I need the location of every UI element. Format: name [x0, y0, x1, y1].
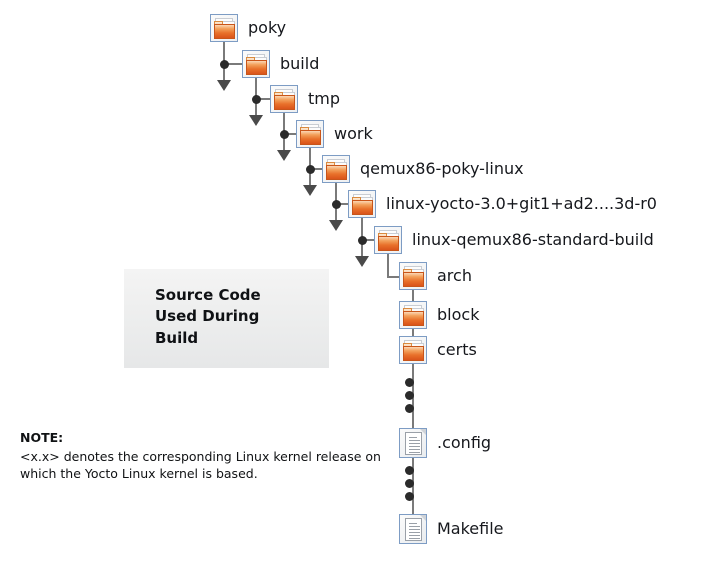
- connector-dot: [252, 95, 261, 104]
- connector-arrowhead: [329, 220, 343, 231]
- tree-node-linux-qemux86-standard-build[interactable]: linux-qemux86-standard-build: [374, 226, 654, 254]
- connector-arrowhead: [303, 185, 317, 196]
- tree-node-tmp[interactable]: tmp: [270, 85, 340, 113]
- folder-icon: [322, 155, 350, 183]
- folder-icon: [270, 85, 298, 113]
- ellipsis-dot: [405, 466, 414, 475]
- connector-arrowhead: [217, 80, 231, 91]
- node-label: arch: [437, 268, 472, 284]
- ellipsis-dot: [405, 404, 414, 413]
- connector-vertical: [412, 290, 414, 301]
- folder-icon: [242, 50, 270, 78]
- note-block: NOTE: <x.x> denotes the corresponding Li…: [20, 430, 390, 483]
- tree-node-qemux86-poky-linux[interactable]: qemux86-poky-linux: [322, 155, 524, 183]
- tree-node-block[interactable]: block: [399, 301, 479, 329]
- ellipsis-dot: [405, 479, 414, 488]
- tree-node-config[interactable]: .config: [399, 428, 491, 458]
- tree-node-build[interactable]: build: [242, 50, 319, 78]
- node-label: .config: [437, 435, 491, 451]
- tree-node-certs[interactable]: certs: [399, 336, 477, 364]
- folder-icon: [348, 190, 376, 218]
- ellipsis-dot: [405, 391, 414, 400]
- tree-node-poky[interactable]: poky: [210, 14, 286, 42]
- node-label: linux-qemux86-standard-build: [412, 232, 654, 248]
- node-label: build: [280, 56, 319, 72]
- node-label: certs: [437, 342, 477, 358]
- directory-tree-diagram: pokybuildtmpworkqemux86-poky-linuxlinux-…: [0, 0, 705, 581]
- connector-dot: [306, 165, 315, 174]
- node-label: block: [437, 307, 479, 323]
- ellipsis-dot: [405, 492, 414, 501]
- connector-dot: [220, 60, 229, 69]
- callout-box: Source Code Used During Build: [124, 269, 329, 368]
- folder-icon: [399, 262, 427, 290]
- folder-icon: [296, 120, 324, 148]
- node-label: qemux86-poky-linux: [360, 161, 524, 177]
- document-icon: [399, 514, 427, 544]
- connector-vertical: [412, 329, 414, 336]
- note-body: <x.x> denotes the corresponding Linux ke…: [20, 448, 390, 484]
- folder-icon: [399, 301, 427, 329]
- tree-node-makefile[interactable]: Makefile: [399, 514, 504, 544]
- connector-arrowhead: [277, 150, 291, 161]
- node-label: tmp: [308, 91, 340, 107]
- node-label: Makefile: [437, 521, 504, 537]
- node-label: work: [334, 126, 373, 142]
- folder-icon: [210, 14, 238, 42]
- tree-node-work[interactable]: work: [296, 120, 373, 148]
- connector-dot: [358, 236, 367, 245]
- connector-arrowhead: [249, 115, 263, 126]
- document-icon: [399, 428, 427, 458]
- folder-icon: [374, 226, 402, 254]
- callout-text: Source Code Used During Build: [155, 285, 261, 349]
- note-title: NOTE:: [20, 430, 390, 446]
- node-label: linux-yocto-3.0+git1+ad2....3d-r0: [386, 196, 657, 212]
- connector-dot: [280, 130, 289, 139]
- tree-node-arch[interactable]: arch: [399, 262, 472, 290]
- ellipsis-dot: [405, 378, 414, 387]
- tree-node-linux-yocto-3-0-git1-ad2-3d-r0[interactable]: linux-yocto-3.0+git1+ad2....3d-r0: [348, 190, 657, 218]
- folder-icon: [399, 336, 427, 364]
- connector-dot: [332, 200, 341, 209]
- connector-arrowhead: [355, 256, 369, 267]
- node-label: poky: [248, 20, 286, 36]
